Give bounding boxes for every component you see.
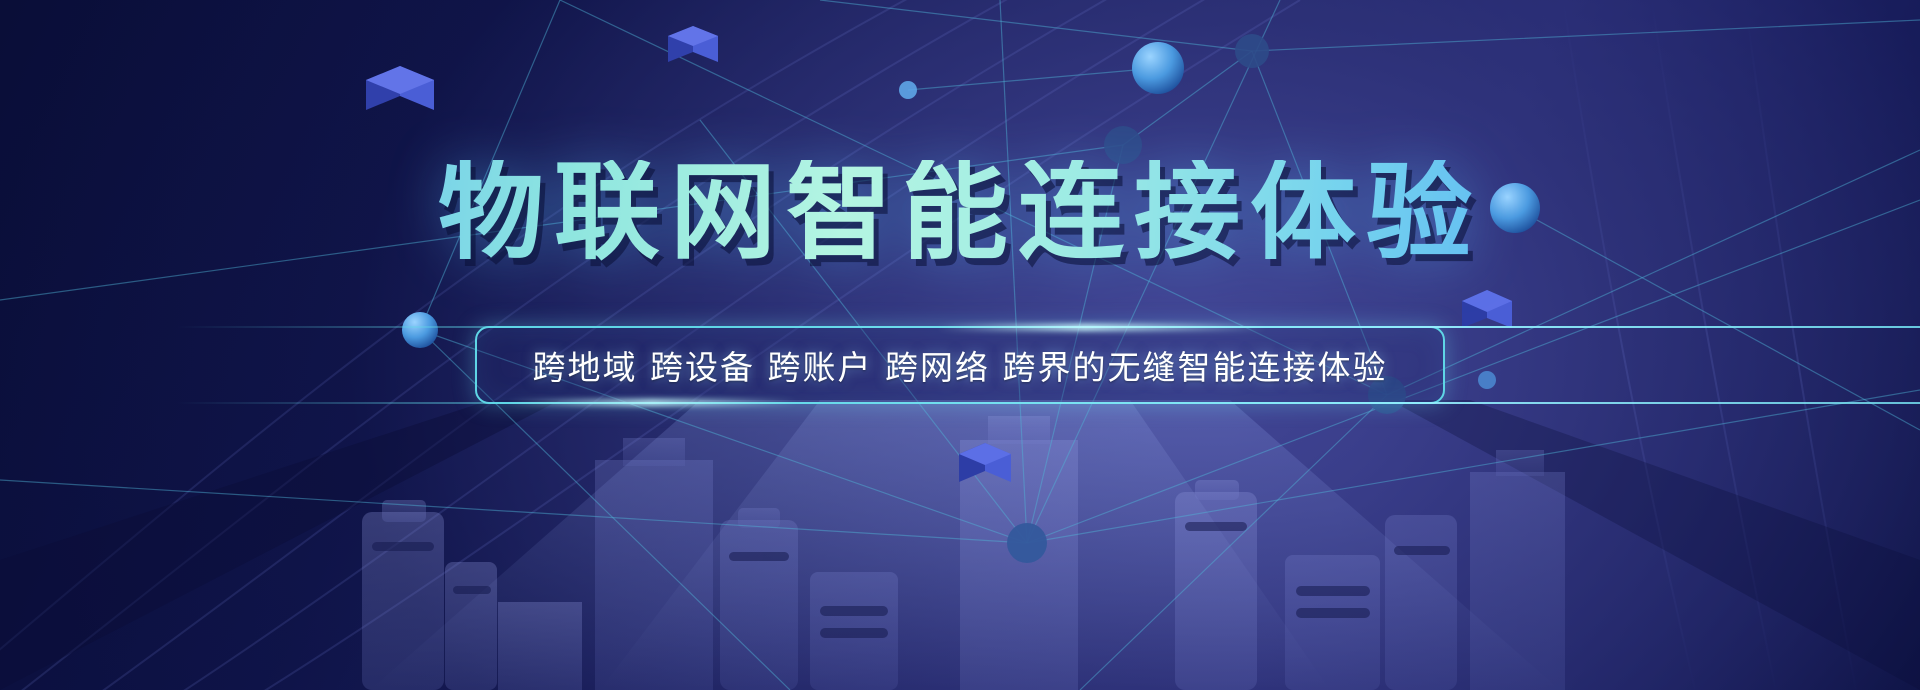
subtitle-text: 跨地域 跨设备 跨账户 跨网络 跨界的无缝智能连接体验	[533, 341, 1388, 389]
box-top-glow	[937, 324, 1267, 331]
banner-content: 物联网智能连接体验 跨地域 跨设备 跨账户 跨网络 跨界的无缝智能连接体验	[0, 0, 1920, 690]
box-bottom-glow	[507, 399, 797, 406]
subtitle-box: 跨地域 跨设备 跨账户 跨网络 跨界的无缝智能连接体验	[475, 326, 1445, 404]
page-title: 物联网智能连接体验	[0, 160, 1920, 266]
iot-hero-banner: 物联网智能连接体验 跨地域 跨设备 跨账户 跨网络 跨界的无缝智能连接体验	[0, 0, 1920, 690]
subtitle-container: 跨地域 跨设备 跨账户 跨网络 跨界的无缝智能连接体验	[475, 326, 1445, 404]
box-bottom-edge-line	[177, 402, 1920, 404]
box-top-edge-line	[177, 326, 1920, 328]
